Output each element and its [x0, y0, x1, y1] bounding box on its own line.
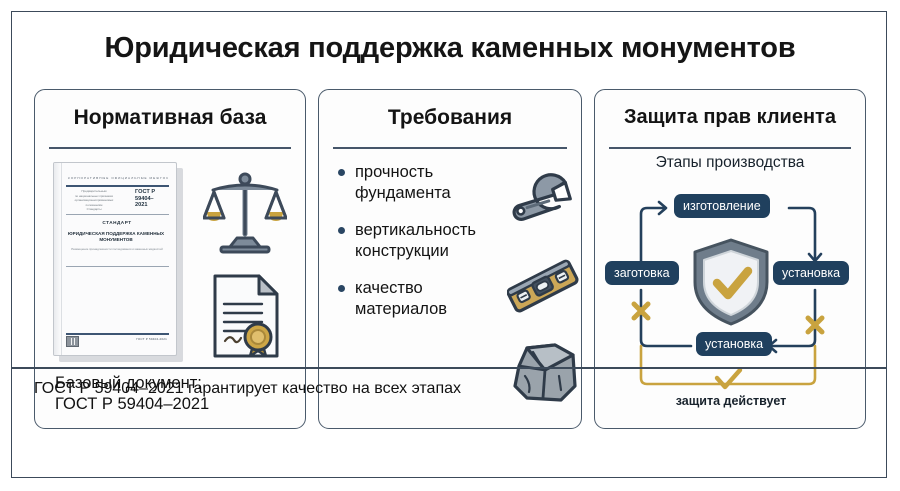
footer-divider	[12, 367, 886, 369]
document-gost-line-1: ГОСТ Р	[135, 189, 167, 196]
certificate-icon	[207, 272, 285, 365]
production-stages-flow: изготовление заготовка установка установ…	[595, 178, 866, 428]
panel-divider	[333, 147, 567, 149]
footer-text: ГОСТ Р 59404–2021 гарантирует качество н…	[34, 380, 461, 398]
flow-node-installation[interactable]: установка	[773, 261, 849, 285]
document-rule-mid	[66, 214, 169, 215]
document-footer-code: ГОСТ Р 59404-2021	[136, 337, 167, 341]
page-title: Юридическая поддержка каменных монументо…	[12, 32, 888, 65]
flow-node-installation-secondary[interactable]: установка	[696, 332, 772, 356]
flow-node-manufacturing[interactable]: изготовление	[674, 194, 770, 218]
document-meta-line-2: по национальных признаках	[70, 195, 118, 198]
panel-divider	[49, 147, 291, 149]
list-item: качество материалов	[337, 278, 505, 319]
document-emblem-icon	[66, 336, 79, 347]
document-gost-line-2: 59404–	[135, 196, 167, 203]
document-rule-top	[66, 185, 169, 187]
document-header-line: КОРПОРАТИВНЫЕ ОФИЦИАЛЬНЫЕ МЕЖГОССТРОЙКА	[68, 176, 168, 180]
document-meta-org: Стандарты	[70, 208, 118, 211]
requirements-list: прочность фундамента вертикальность конс…	[337, 162, 505, 336]
document-cover: КОРПОРАТИВНЫЕ ОФИЦИАЛЬНЫЕ МЕЖГОССТРОЙКА …	[53, 162, 177, 356]
flow-subheading: Этапы производства	[595, 154, 865, 172]
document-gost-line-3: 2021	[135, 202, 167, 209]
panel-title-regulatory: Нормативная база	[35, 106, 305, 130]
panel-client-rights-protection: Защита прав клиента Этапы производства	[594, 89, 866, 429]
scales-of-justice-icon	[203, 168, 287, 259]
panel-title-protection: Защита прав клиента	[595, 106, 865, 129]
document-standard-word: СТАНДАРТ	[66, 220, 168, 225]
panel-divider	[609, 147, 851, 149]
document-rule-lower	[66, 266, 169, 267]
document-standard-subtitle: Размещение принадлежности последования и…	[68, 247, 166, 251]
panel-regulatory-base: Нормативная база КОРПОРАТИВНЫЕ ОФИЦИАЛЬН…	[34, 89, 306, 429]
standard-document-illustration: КОРПОРАТИВНЫЕ ОФИЦИАЛЬНЫЕ МЕЖГОССТРОЙКА …	[53, 162, 183, 362]
panel-requirements: Требования прочность фундамента вертикал…	[318, 89, 582, 429]
document-meta-line-3: организационноприменимых	[70, 199, 118, 202]
list-item: вертикальность конструкции	[337, 220, 505, 261]
outer-frame: Юридическая поддержка каменных монументо…	[11, 11, 887, 478]
document-meta-line-4: положениям	[70, 204, 118, 207]
document-rule-bottom	[66, 333, 169, 335]
protection-active-note: защита действует	[595, 394, 866, 408]
infographic-canvas: Юридическая поддержка каменных монументо…	[0, 0, 900, 491]
stone-block-icon	[511, 342, 581, 409]
spirit-level-icon	[507, 250, 579, 329]
panel-title-requirements: Требования	[319, 106, 581, 130]
wrench-icon	[509, 168, 575, 243]
document-standard-title: ЮРИДИЧЕСКАЯ ПОДДЕРЖКА КАМЕННЫХ МОНУМЕНТО…	[64, 231, 168, 244]
list-item: прочность фундамента	[337, 162, 505, 203]
flow-node-blank[interactable]: заготовка	[605, 261, 679, 285]
document-meta-line-1: Предварительным	[70, 190, 118, 193]
document-gost-code: ГОСТ Р 59404– 2021	[135, 189, 167, 209]
document-meta-block: Предварительным по национальных признака…	[70, 190, 118, 213]
document-spine	[54, 163, 62, 355]
